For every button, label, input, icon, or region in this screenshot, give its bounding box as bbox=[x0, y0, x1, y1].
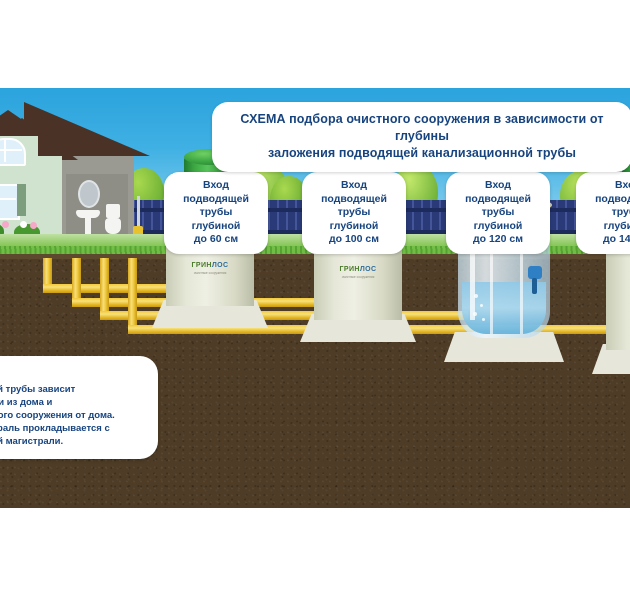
callout-line-3: до 100 см bbox=[312, 233, 396, 247]
window-mullion bbox=[0, 198, 16, 200]
tank-brand-logo: ГРИНЛОС bbox=[314, 266, 402, 273]
callout-line-3: до 120 см bbox=[456, 233, 540, 247]
garden-flower bbox=[30, 222, 37, 229]
tank-pump-outlet bbox=[532, 278, 537, 294]
brand-green: ГРИН bbox=[192, 262, 212, 269]
tank-brand-subtitle: очистные сооружения bbox=[314, 275, 402, 279]
brand-blue: ЛОС bbox=[212, 262, 229, 269]
callout-line-1: Вход подводящей bbox=[586, 179, 630, 206]
info-line-4: Подводящая магистраль прокладывается с bbox=[0, 422, 146, 435]
brand-blue: ЛОС bbox=[360, 266, 377, 273]
garden-flower bbox=[2, 221, 9, 228]
window-mullion bbox=[0, 149, 22, 151]
pipe-vertical-3 bbox=[100, 258, 109, 316]
callout-line-2: трубы глубиной bbox=[312, 206, 396, 233]
callout-line-1: Вход подводящей bbox=[312, 179, 396, 206]
title-line-2: заложения подводящей канализационной тру… bbox=[226, 145, 618, 162]
callout-line-2: трубы глубиной bbox=[586, 206, 630, 233]
callout-line-3: до 140 см bbox=[586, 233, 630, 247]
bathroom-toilet-tank bbox=[106, 204, 120, 218]
pipe-vertical-4 bbox=[128, 258, 137, 330]
callout-depth-100: Вход подводящей трубы глубиной до 100 см bbox=[302, 172, 406, 254]
tank-brand-logo: ГРИ bbox=[606, 296, 630, 303]
brand-green: ГРИН bbox=[340, 266, 360, 273]
callout-depth-120: Вход подводящей трубы глубиной до 120 см bbox=[446, 172, 550, 254]
tank-brand-subtitle: очистные bbox=[606, 305, 630, 309]
info-panel: ГРИНЛОС Глубина подводящей трубы зависит… bbox=[0, 356, 158, 459]
callout-line-1: Вход подводящей bbox=[174, 179, 258, 206]
aeration-bubble bbox=[482, 318, 485, 321]
bathroom-toilet-bowl bbox=[105, 218, 121, 234]
aeration-bubble bbox=[474, 294, 478, 298]
aeration-bubble bbox=[480, 304, 483, 307]
tank-brand-subtitle: очистные сооружения bbox=[166, 271, 254, 275]
garden-flower bbox=[20, 221, 27, 228]
title-line-1: СХЕМА подбора очистного сооружения в зав… bbox=[226, 111, 618, 145]
callout-line-1: Вход подводящей bbox=[456, 179, 540, 206]
house-gable-roof bbox=[0, 110, 46, 136]
callout-line-2: трубы глубиной bbox=[456, 206, 540, 233]
tank-brand-logo: ГРИНЛОС bbox=[166, 262, 254, 269]
callout-line-3: до 60 см bbox=[174, 233, 258, 247]
info-line-1: Глубина подводящей трубы зависит bbox=[0, 383, 146, 396]
callout-depth-60: Вход подводящей трубы глубиной до 60 см bbox=[164, 172, 268, 254]
pipe-vertical-2 bbox=[72, 258, 81, 303]
aeration-bubble bbox=[473, 312, 477, 316]
illustration-canvas: ГРИНЛОС очистные сооружения ГРИНЛОС очис… bbox=[0, 0, 630, 600]
bathroom-sink bbox=[76, 210, 100, 218]
window-shutter bbox=[17, 184, 26, 216]
callout-depth-140: Вход подводящей трубы глубиной до 140 см bbox=[576, 172, 630, 254]
bathroom-mirror bbox=[78, 180, 100, 208]
callout-line-2: трубы глубиной bbox=[174, 206, 258, 233]
info-line-3: удаленности очистного сооружения от дома… bbox=[0, 409, 146, 422]
info-line-5: уклоном самотечный магистрали. bbox=[0, 435, 146, 448]
info-line-2: от длины магистрали из дома и bbox=[0, 396, 146, 409]
scene: ГРИНЛОС очистные сооружения ГРИНЛОС очис… bbox=[0, 88, 630, 508]
bathroom-sink-pedestal bbox=[85, 218, 91, 234]
info-panel-brand: ГРИНЛОС bbox=[0, 366, 146, 378]
title-banner: СХЕМА подбора очистного сооружения в зав… bbox=[212, 102, 630, 172]
